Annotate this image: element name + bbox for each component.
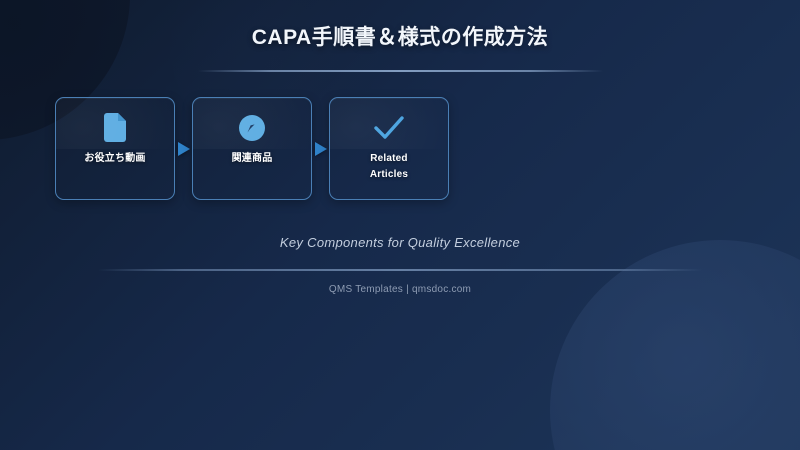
card-label: Related Articles [364,151,414,182]
card-useful-video[interactable]: お役立ち動画 [55,97,175,200]
footer-text: QMS Templates | qmsdoc.com [0,284,800,295]
connector-2 [312,97,329,200]
card-label: お役立ち動画 [78,151,151,167]
background-circle-bottom-right [550,240,800,450]
card-label: 関連商品 [226,151,279,167]
title-divider [198,70,603,72]
card-related-products[interactable]: 関連商品 [192,97,312,200]
check-icon [373,112,405,144]
page-title: CAPA手順書＆様式の作成方法 [0,24,800,51]
card-related-articles[interactable]: Related Articles [329,97,449,200]
compass-icon [238,112,266,144]
arrow-right-icon [178,142,190,156]
card-row: お役立ち動画 関連商品 Related [55,97,449,200]
slide-subtitle: Key Components for Quality Excellence [0,235,800,250]
document-icon [102,112,128,144]
footer-divider [98,269,702,271]
slide-canvas: CAPA手順書＆様式の作成方法 お役立ち動画 関連商品 [0,0,800,450]
card-label-line-1: Related [370,153,408,164]
slide-header: CAPA手順書＆様式の作成方法 [0,24,800,72]
card-label-line-2: Articles [370,169,408,180]
arrow-right-icon [315,142,327,156]
connector-1 [175,97,192,200]
